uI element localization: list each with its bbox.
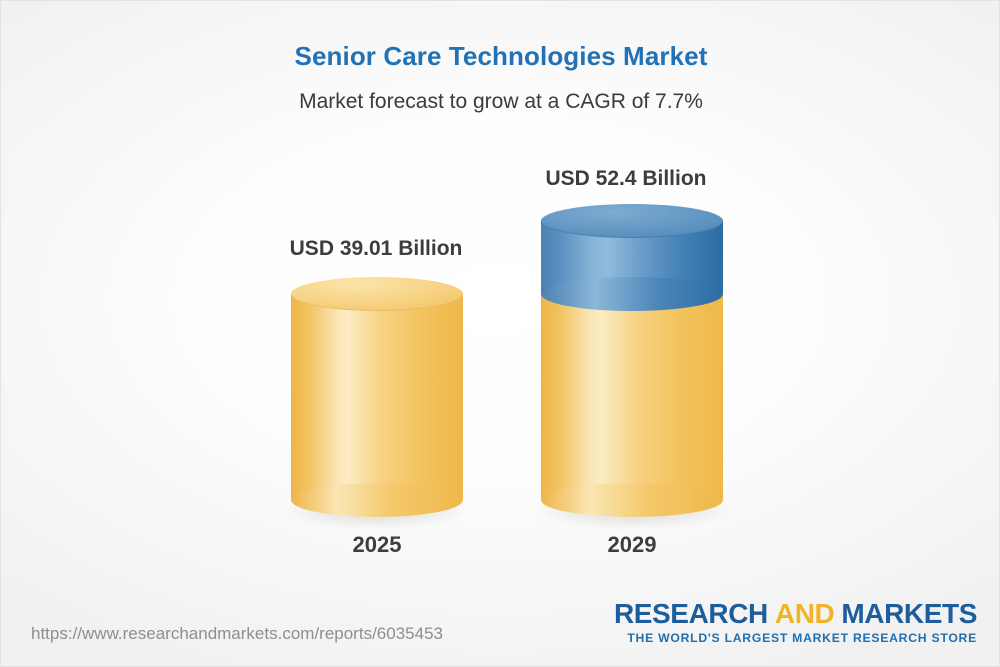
cylinder-segment-growth-2029 [541, 204, 723, 311]
bar-value-label-2029: USD 52.4 Billion [476, 167, 776, 191]
cylinder-top-2029 [541, 204, 723, 238]
source-url[interactable]: https://www.researchandmarkets.com/repor… [31, 624, 443, 644]
brand-logo-wordmark: RESEARCHANDMARKETS [614, 599, 977, 628]
brand-logo[interactable]: RESEARCHANDMARKETS THE WORLD'S LARGEST M… [614, 599, 977, 645]
bar-category-label-2029: 2029 [482, 532, 782, 558]
brand-tagline: THE WORLD'S LARGEST MARKET RESEARCH STOR… [614, 631, 977, 645]
brand-word-research: RESEARCH [614, 598, 768, 629]
brand-word-and: AND [775, 598, 834, 629]
chart-canvas: Senior Care Technologies Market Market f… [0, 0, 1000, 667]
bar-group-2029: USD 52.4 Billion 2029 [1, 1, 1000, 667]
brand-word-markets: MARKETS [841, 598, 977, 629]
chart-plot-area: USD 39.01 Billion 2025 USD 52.4 Billion [1, 1, 1000, 667]
cylinder-2029[interactable] [541, 204, 723, 517]
cylinder-segment-base-2029 [541, 277, 723, 517]
